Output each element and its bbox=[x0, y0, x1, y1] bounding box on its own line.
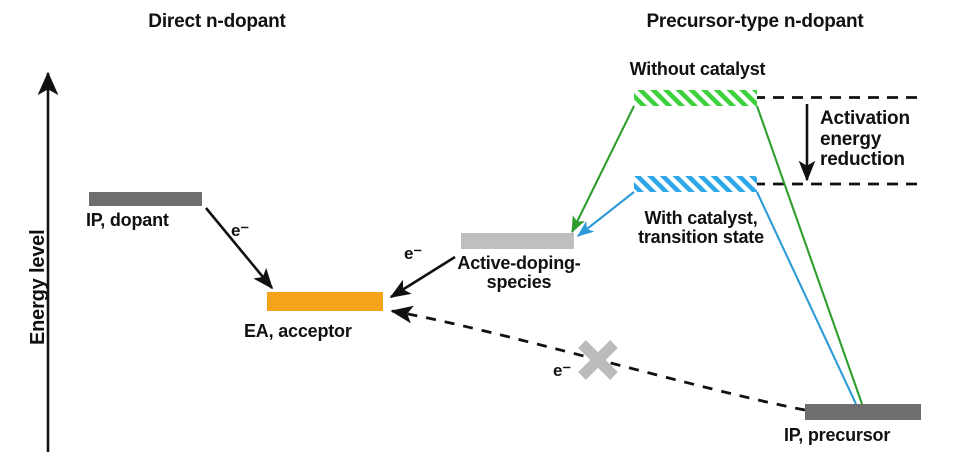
level-bar-active-doping-species bbox=[461, 233, 574, 249]
electron-label-direct: e⁻ bbox=[231, 222, 249, 240]
electron-label-active-species: e⁻ bbox=[404, 245, 422, 263]
level-bar-ip-dopant bbox=[89, 192, 202, 206]
blocked-x-icon bbox=[582, 344, 614, 376]
energy-level-diagram: Energy level Direct n-dopant Precursor-t… bbox=[0, 0, 958, 471]
label-ip-dopant: IP, dopant bbox=[86, 211, 169, 230]
level-bar-ip-precursor bbox=[805, 404, 921, 420]
diagram-canvas bbox=[0, 0, 958, 471]
dopant-to-acceptor-arrow bbox=[206, 208, 272, 288]
label-with-catalyst: With catalyst, transition state bbox=[603, 209, 799, 248]
electron-label-blocked: e⁻ bbox=[553, 362, 571, 380]
annotation-activation-energy-reduction: Activation energy reduction bbox=[820, 109, 910, 171]
heading-precursor-type-n-dopant: Precursor-type n-dopant bbox=[560, 12, 950, 33]
label-ip-precursor: IP, precursor bbox=[784, 426, 890, 445]
label-active-doping-species: Active-doping- species bbox=[437, 254, 601, 293]
label-ea-acceptor: EA, acceptor bbox=[244, 322, 352, 341]
level-bar-ea-acceptor bbox=[267, 292, 383, 311]
heading-direct-n-dopant: Direct n-dopant bbox=[62, 12, 372, 33]
energy-axis-label: Energy level bbox=[28, 230, 50, 345]
level-bar-with-catalyst bbox=[634, 176, 757, 192]
label-without-catalyst: Without catalyst bbox=[590, 60, 805, 79]
level-bar-without-catalyst bbox=[634, 90, 757, 106]
